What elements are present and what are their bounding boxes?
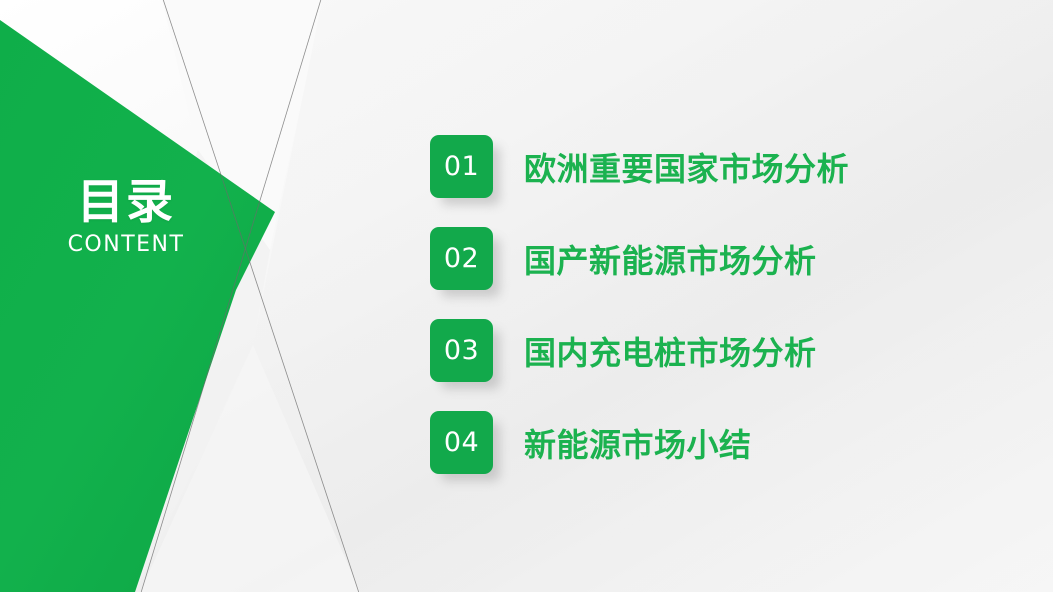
slide-canvas: 目录 CONTENT 01 欧洲重要国家市场分析 02 国产新能源市场分析 03… <box>0 0 1053 592</box>
agenda-item-label: 国内充电桩市场分析 <box>524 328 817 374</box>
agenda-number-badge: 02 <box>430 227 493 290</box>
decor-line-right <box>140 0 322 592</box>
agenda-list: 01 欧洲重要国家市场分析 02 国产新能源市场分析 03 国内充电桩市场分析 … <box>430 135 849 474</box>
agenda-item-02[interactable]: 02 国产新能源市场分析 <box>430 227 849 290</box>
agenda-item-01[interactable]: 01 欧洲重要国家市场分析 <box>430 135 849 198</box>
green-accent-shape <box>0 20 275 592</box>
section-title-block: 目录 CONTENT <box>0 178 252 258</box>
agenda-number-badge: 04 <box>430 411 493 474</box>
agenda-item-label: 新能源市场小结 <box>524 420 752 466</box>
decor-line-left <box>162 0 360 592</box>
agenda-item-04[interactable]: 04 新能源市场小结 <box>430 411 849 474</box>
page-subtitle: CONTENT <box>0 233 252 257</box>
decor-facet-grey-bottom <box>140 345 360 592</box>
agenda-number-badge: 03 <box>430 319 493 382</box>
agenda-item-label: 欧洲重要国家市场分析 <box>524 144 849 190</box>
agenda-item-03[interactable]: 03 国内充电桩市场分析 <box>430 319 849 382</box>
page-title: 目录 <box>0 178 252 227</box>
agenda-item-label: 国产新能源市场分析 <box>524 236 817 282</box>
agenda-number-badge: 01 <box>430 135 493 198</box>
